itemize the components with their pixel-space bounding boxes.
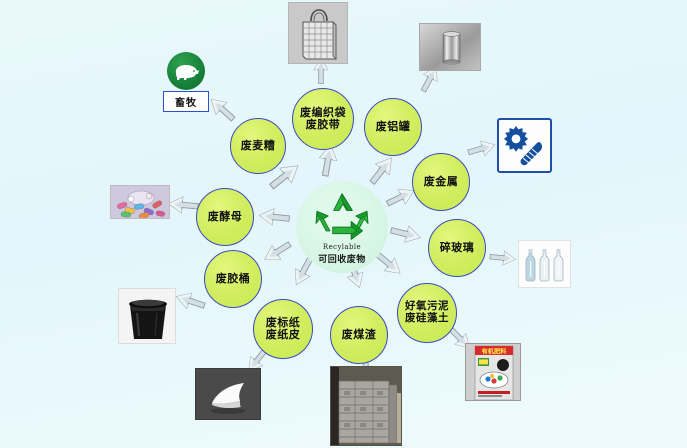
node-waste-plastic-drum[interactable]: 废胶桶 <box>204 250 262 308</box>
node-label-line: 废酵母 <box>208 211 243 223</box>
node-woven-bag-tape[interactable]: 废编织袋 废胶带 <box>292 88 354 150</box>
pharmaceutical-pills-image <box>110 185 170 219</box>
node-label-line: 废麦糟 <box>241 140 276 152</box>
node-aerobic-sludge[interactable]: 好氧污泥 废硅藻土 <box>397 283 457 343</box>
node-waste-yeast[interactable]: 废酵母 <box>196 188 254 246</box>
hub-caption-cn: 可回收废物 <box>318 252 366 265</box>
node-label-paper-carton[interactable]: 废标纸 废纸皮 <box>253 299 313 359</box>
arrow-hub-to-waste-plastic-drum <box>260 236 295 267</box>
recycling-flow-diagram: Recylable 可回收废物 废麦糟 废编织袋 废胶带 废铝罐 废金属 碎玻璃… <box>0 0 687 448</box>
node-waste-aluminum-can[interactable]: 废铝罐 <box>364 98 422 156</box>
plastic-bin-image <box>118 288 176 344</box>
arrow-hub-to-waste-yeast <box>257 206 291 227</box>
husbandry-label-box: 畜牧 <box>163 91 209 112</box>
recycle-arrows-icon <box>313 190 371 242</box>
node-label-line: 废硅藻土 <box>405 313 449 325</box>
arrow-malt-to-husbandry <box>205 92 239 125</box>
arrow-glass-to-bottles <box>489 249 517 268</box>
machinery-parts-icon[interactable] <box>497 118 552 173</box>
organic-fertilizer-image: 有机肥料 <box>465 343 521 401</box>
recycling-hub[interactable]: Recylable 可回收废物 <box>296 181 388 273</box>
node-waste-malt-grains[interactable]: 废麦糟 <box>230 118 286 174</box>
woven-bag-image <box>288 2 348 64</box>
node-label-line: 废胶带 <box>300 119 346 131</box>
concrete-bricks-image <box>330 366 402 446</box>
node-scrap-metal[interactable]: 废金属 <box>412 153 470 211</box>
node-broken-glass[interactable]: 碎玻璃 <box>428 219 486 277</box>
node-label-line: 废胶桶 <box>216 273 251 285</box>
animal-husbandry-icon[interactable] <box>167 52 205 90</box>
node-label-line: 废金属 <box>424 176 459 188</box>
arrow-drum-to-bin <box>173 288 207 314</box>
arrow-hub-to-waste-aluminum-can <box>364 151 399 189</box>
paper-sheet-image <box>195 368 261 420</box>
hub-caption-en: Recylable <box>323 243 361 251</box>
aluminum-can-image <box>419 23 481 71</box>
node-waste-coal-slag[interactable]: 废煤渣 <box>330 306 388 364</box>
arrow-yeast-to-pills <box>167 195 198 216</box>
node-label-line: 废煤渣 <box>342 329 377 341</box>
pig-silhouette-icon <box>172 61 200 81</box>
svg-text:有机肥料: 有机肥料 <box>482 348 508 356</box>
glass-bottles-image <box>518 240 571 288</box>
arrow-metal-to-gearicon <box>466 136 498 160</box>
node-label-line: 碎玻璃 <box>440 242 475 254</box>
node-label-line: 废纸皮 <box>266 329 301 341</box>
node-label-line: 废铝罐 <box>376 121 411 133</box>
husbandry-label: 畜牧 <box>175 94 197 109</box>
arrow-hub-to-broken-glass <box>388 221 423 246</box>
